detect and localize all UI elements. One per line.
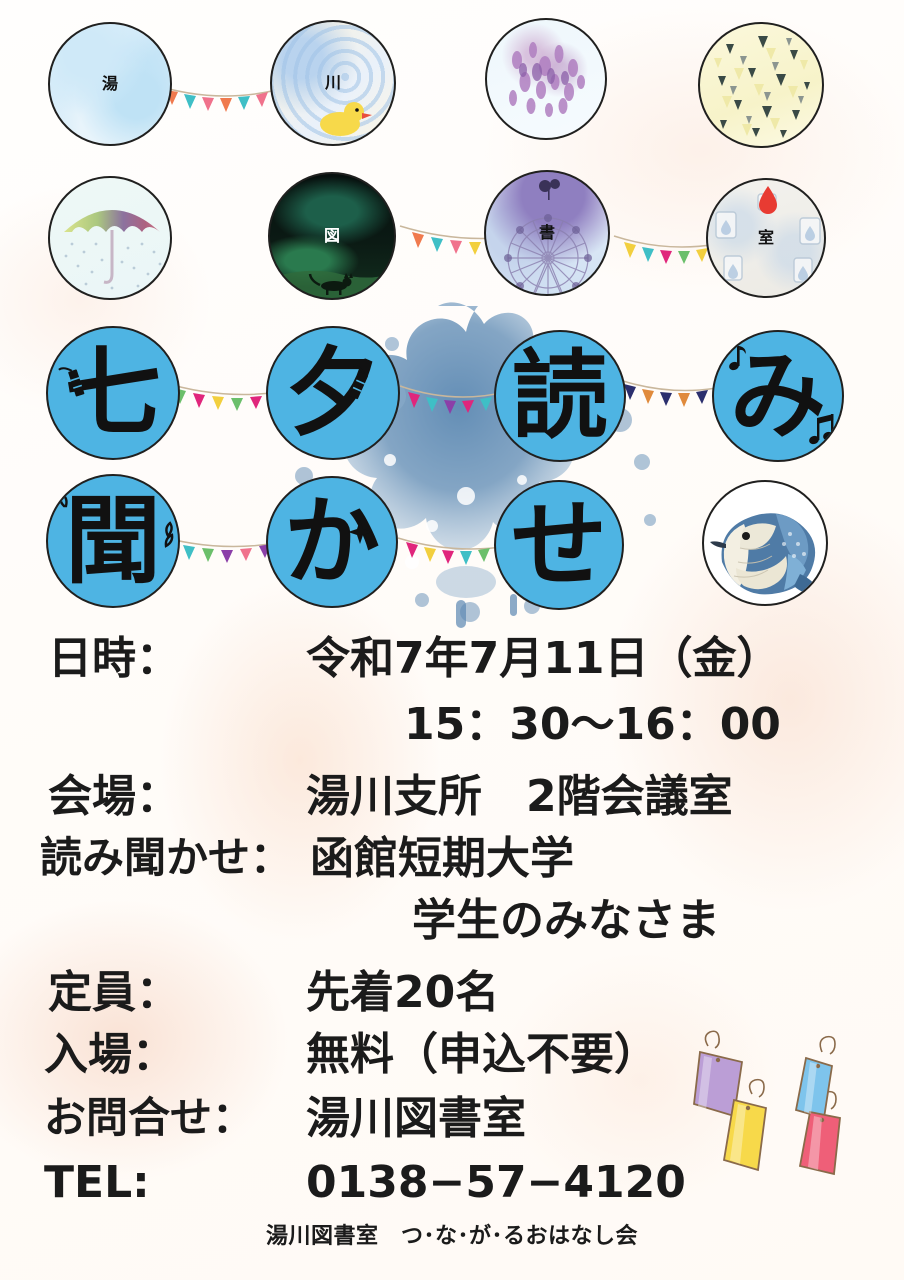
info-block: 日時： 令和7年7月11日（金） 15：30〜16：00 会場： 湯川支所 2階… <box>0 636 904 1216</box>
title-circle-yu: 湯 <box>48 22 172 146</box>
title-char: 読 <box>512 348 608 444</box>
tel-label: TEL: <box>44 1160 150 1207</box>
place-value: 湯川支所 2階会議室 <box>306 774 733 821</box>
capacity-value: 先着20名 <box>306 970 499 1017</box>
reader-label: 読み聞かせ： <box>40 836 292 881</box>
title-char: 川 <box>325 75 341 91</box>
title-circle-bun: 聞 <box>46 474 180 608</box>
capacity-label: 定員： <box>48 970 180 1017</box>
triangle-confetti-icon <box>700 24 822 146</box>
contact-value: 湯川図書室 <box>306 1096 526 1143</box>
bamboo-leaf-icon <box>48 476 178 606</box>
title-circle-doku: 読 <box>494 330 626 462</box>
title-char: 室 <box>758 230 774 246</box>
place-label: 会場： <box>48 774 180 821</box>
music-note-icon <box>714 332 842 460</box>
title-circle-bird <box>702 480 828 606</box>
title-circle-mi: み <box>712 330 844 462</box>
credit-line: 湯川図書室 つ･な･が･るおはなし会 <box>0 1218 904 1250</box>
tel-value: 0138−57−4120 <box>306 1160 686 1207</box>
datetime-value: 令和7年7月11日（金） <box>306 636 780 683</box>
datetime-label: 日時： <box>48 636 180 683</box>
reader-value-2: 学生のみなさま <box>412 898 720 945</box>
contact-label: お問合せ： <box>44 1096 254 1141</box>
bamboo-tanzaku-icon <box>268 328 398 458</box>
bamboo-tanzaku-icon <box>48 328 178 458</box>
title-circle-kawa: 川 <box>270 20 396 146</box>
title-circle-ka: か <box>266 476 398 608</box>
title-char: せ <box>511 497 607 593</box>
title-char: 湯 <box>102 76 118 92</box>
fee-label: 入場： <box>44 1032 176 1079</box>
title-circle-sho: 書 <box>484 170 610 296</box>
bird-icon <box>704 482 826 604</box>
poster-root: 湯 川 <box>0 0 904 1280</box>
title-char: 書 <box>539 225 555 241</box>
title-circle-raindrops <box>485 18 607 140</box>
title-circle-zu: 図 <box>268 172 396 300</box>
title-circle-umbrella <box>48 176 172 300</box>
time-value: 15：30〜16：00 <box>404 702 781 749</box>
reader-value: 函館短期大学 <box>310 836 574 883</box>
title-circle-tanabata: 夕 <box>266 326 400 460</box>
title-circle-se: せ <box>494 480 624 610</box>
fee-value: 無料（申込不要） <box>306 1032 658 1079</box>
star-icon <box>268 478 396 606</box>
umbrella-icon <box>50 178 170 298</box>
title-circle-shitsu: 室 <box>706 178 826 298</box>
title-circle-triangles <box>698 22 824 148</box>
title-circle-shichi: 七 <box>46 326 180 460</box>
purple-raindrops-icon <box>487 20 605 138</box>
credit-text: 湯川図書室 つ･な･が･るおはなし会 <box>266 1218 638 1250</box>
title-char: 図 <box>324 228 340 244</box>
